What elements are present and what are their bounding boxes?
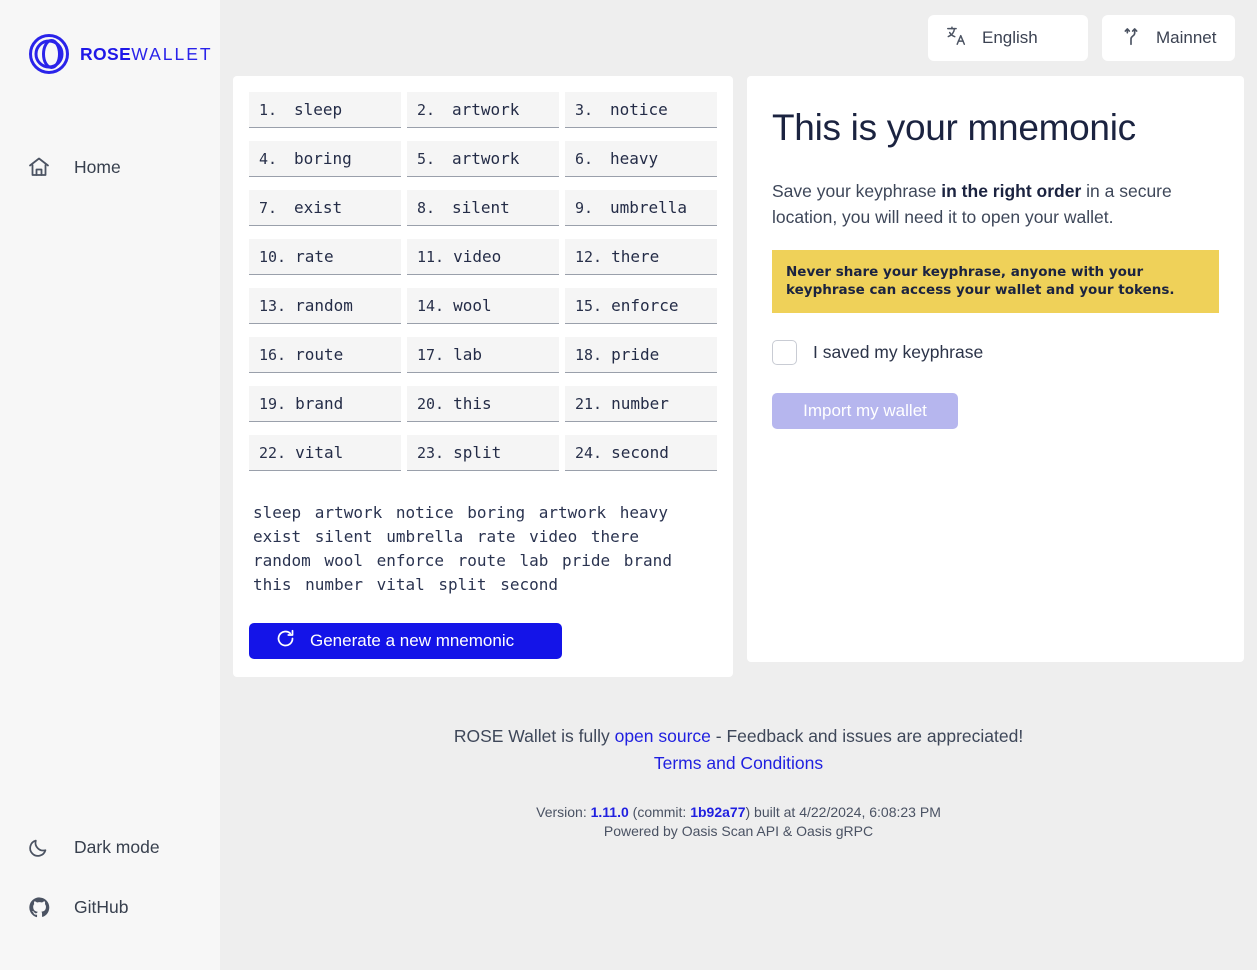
word-index: 4.: [259, 150, 285, 168]
translate-icon: [946, 25, 968, 52]
word-value: route: [295, 345, 343, 364]
keyphrase-warning-text: Never share your keyphrase, anyone with …: [786, 263, 1205, 299]
mnemonic-word-field[interactable]: 8.silent: [407, 190, 559, 226]
word-index: 8.: [417, 199, 443, 217]
sidebar-item-dark-mode[interactable]: Dark mode: [0, 824, 220, 870]
mnemonic-word-field[interactable]: 24.second: [565, 435, 717, 471]
open-source-link[interactable]: open source: [615, 726, 711, 746]
word-index: 7.: [259, 199, 285, 217]
moon-icon: [26, 834, 52, 860]
sidebar-item-label-home: Home: [74, 157, 121, 178]
footer-tagline-prefix: ROSE Wallet is fully: [454, 726, 615, 746]
generate-mnemonic-button[interactable]: Generate a new mnemonic: [249, 623, 562, 659]
network-fork-icon: [1120, 25, 1142, 52]
topbar: English Mainnet: [220, 0, 1257, 76]
mnemonic-word-field[interactable]: 17.lab: [407, 337, 559, 373]
word-index: 12.: [575, 248, 602, 266]
mnemonic-word-field[interactable]: 5.artwork: [407, 141, 559, 177]
saved-keyphrase-checkbox-row[interactable]: I saved my keyphrase: [772, 340, 1219, 365]
home-icon: [26, 154, 52, 180]
word-index: 20.: [417, 395, 444, 413]
mnemonic-phrase-text: sleep artwork notice boring artwork heav…: [249, 501, 714, 597]
word-value: there: [611, 247, 659, 266]
word-value: exist: [294, 198, 342, 217]
word-index: 2.: [417, 101, 443, 119]
language-label: English: [982, 28, 1038, 48]
word-index: 14.: [417, 297, 444, 315]
saved-keyphrase-checkbox[interactable]: [772, 340, 797, 365]
word-value: second: [611, 443, 669, 462]
commit-hash-link[interactable]: 1b92a77: [690, 804, 745, 820]
mnemonic-card: 1.sleep 2.artwork 3.notice 4.boring 5.ar…: [233, 76, 733, 677]
word-value: rate: [295, 247, 334, 266]
word-index: 10.: [259, 248, 286, 266]
import-wallet-button[interactable]: Import my wallet: [772, 393, 958, 429]
word-index: 16.: [259, 346, 286, 364]
mnemonic-word-field[interactable]: 10.rate: [249, 239, 401, 275]
word-index: 3.: [575, 101, 601, 119]
saved-keyphrase-label: I saved my keyphrase: [813, 342, 983, 363]
sidebar-item-home[interactable]: Home: [0, 144, 220, 190]
app-root: ROSEWALLET Home Dark mode: [0, 0, 1257, 970]
word-index: 17.: [417, 346, 444, 364]
mnemonic-word-field[interactable]: 4.boring: [249, 141, 401, 177]
desc-emphasis: in the right order: [941, 181, 1081, 201]
sidebar-item-label-github: GitHub: [74, 897, 128, 918]
language-selector[interactable]: English: [928, 15, 1088, 61]
sidebar-bottom-nav: Dark mode GitHub: [0, 824, 220, 944]
word-value: this: [453, 394, 492, 413]
mnemonic-word-grid: 1.sleep 2.artwork 3.notice 4.boring 5.ar…: [249, 92, 717, 471]
mnemonic-word-field[interactable]: 20.this: [407, 386, 559, 422]
mnemonic-word-field[interactable]: 11.video: [407, 239, 559, 275]
mnemonic-word-field[interactable]: 6.heavy: [565, 141, 717, 177]
generate-mnemonic-label: Generate a new mnemonic: [310, 631, 514, 651]
sidebar: ROSEWALLET Home Dark mode: [0, 0, 220, 970]
word-index: 22.: [259, 444, 286, 462]
word-value: pride: [611, 345, 659, 364]
word-value: artwork: [452, 149, 519, 168]
refresh-icon: [275, 628, 296, 654]
brand-name-secondary: WALLET: [131, 44, 212, 64]
commit-label: (commit:: [629, 804, 690, 820]
keyphrase-warning-box: Never share your keyphrase, anyone with …: [772, 250, 1219, 313]
word-index: 9.: [575, 199, 601, 217]
word-value: artwork: [452, 100, 519, 119]
mnemonic-word-field[interactable]: 19.brand: [249, 386, 401, 422]
word-value: lab: [453, 345, 482, 364]
network-selector[interactable]: Mainnet: [1102, 15, 1235, 61]
mnemonic-description: Save your keyphrase in the right order i…: [772, 178, 1219, 230]
word-value: heavy: [610, 149, 658, 168]
desc-part-1: Save your keyphrase: [772, 181, 941, 201]
word-value: umbrella: [610, 198, 687, 217]
word-index: 21.: [575, 395, 602, 413]
word-index: 18.: [575, 346, 602, 364]
mnemonic-word-field[interactable]: 1.sleep: [249, 92, 401, 128]
word-value: random: [295, 296, 353, 315]
rose-logo-icon: [28, 33, 70, 75]
word-value: wool: [453, 296, 492, 315]
mnemonic-word-field[interactable]: 7.exist: [249, 190, 401, 226]
footer-version-line: Version: 1.11.0 (commit: 1b92a77) built …: [220, 802, 1257, 822]
word-value: silent: [452, 198, 510, 217]
build-timestamp: ) built at 4/22/2024, 6:08:23 PM: [746, 804, 941, 820]
version-number-link[interactable]: 1.11.0: [591, 804, 629, 820]
footer: ROSE Wallet is fully open source - Feedb…: [220, 724, 1257, 839]
word-value: boring: [294, 149, 352, 168]
sidebar-item-label-dark-mode: Dark mode: [74, 837, 160, 858]
word-value: notice: [610, 100, 668, 119]
word-index: 6.: [575, 150, 601, 168]
mnemonic-word-field[interactable]: 2.artwork: [407, 92, 559, 128]
word-index: 23.: [417, 444, 444, 462]
word-value: vital: [295, 443, 343, 462]
word-index: 1.: [259, 101, 285, 119]
brand-name-primary: ROSE: [80, 44, 131, 64]
mnemonic-word-field[interactable]: 21.number: [565, 386, 717, 422]
word-index: 19.: [259, 395, 286, 413]
page-title: This is your mnemonic: [772, 106, 1219, 150]
word-value: sleep: [294, 100, 342, 119]
mnemonic-word-field[interactable]: 3.notice: [565, 92, 717, 128]
word-value: brand: [295, 394, 343, 413]
mnemonic-word-field[interactable]: 18.pride: [565, 337, 717, 373]
word-index: 11.: [417, 248, 444, 266]
mnemonic-word-field[interactable]: 13.random: [249, 288, 401, 324]
footer-tagline-suffix: - Feedback and issues are appreciated!: [711, 726, 1023, 746]
word-index: 13.: [259, 297, 286, 315]
footer-tagline: ROSE Wallet is fully open source - Feedb…: [220, 724, 1257, 748]
word-index: 24.: [575, 444, 602, 462]
mnemonic-word-field[interactable]: 12.there: [565, 239, 717, 275]
word-value: split: [453, 443, 501, 462]
word-value: number: [611, 394, 669, 413]
mnemonic-word-field[interactable]: 9.umbrella: [565, 190, 717, 226]
word-index: 15.: [575, 297, 602, 315]
panels-container: 1.sleep 2.artwork 3.notice 4.boring 5.ar…: [220, 76, 1257, 677]
main-content: English Mainnet 1.sleep: [220, 0, 1257, 970]
mnemonic-word-field[interactable]: 16.route: [249, 337, 401, 373]
word-value: video: [453, 247, 501, 266]
footer-powered-by: Powered by Oasis Scan API & Oasis gRPC: [220, 823, 1257, 839]
terms-and-conditions-link[interactable]: Terms and Conditions: [220, 753, 1257, 774]
brand-logo[interactable]: ROSEWALLET: [0, 0, 220, 75]
mnemonic-word-field[interactable]: 14.wool: [407, 288, 559, 324]
word-index: 5.: [417, 150, 443, 168]
mnemonic-word-field[interactable]: 23.split: [407, 435, 559, 471]
word-value: enforce: [611, 296, 678, 315]
mnemonic-word-field[interactable]: 15.enforce: [565, 288, 717, 324]
version-label: Version:: [536, 804, 590, 820]
brand-logo-text: ROSEWALLET: [80, 44, 213, 65]
mnemonic-info-card: This is your mnemonic Save your keyphras…: [747, 76, 1244, 662]
sidebar-item-github[interactable]: GitHub: [0, 884, 220, 930]
github-icon: [26, 894, 52, 920]
mnemonic-word-field[interactable]: 22.vital: [249, 435, 401, 471]
network-label: Mainnet: [1156, 28, 1216, 48]
